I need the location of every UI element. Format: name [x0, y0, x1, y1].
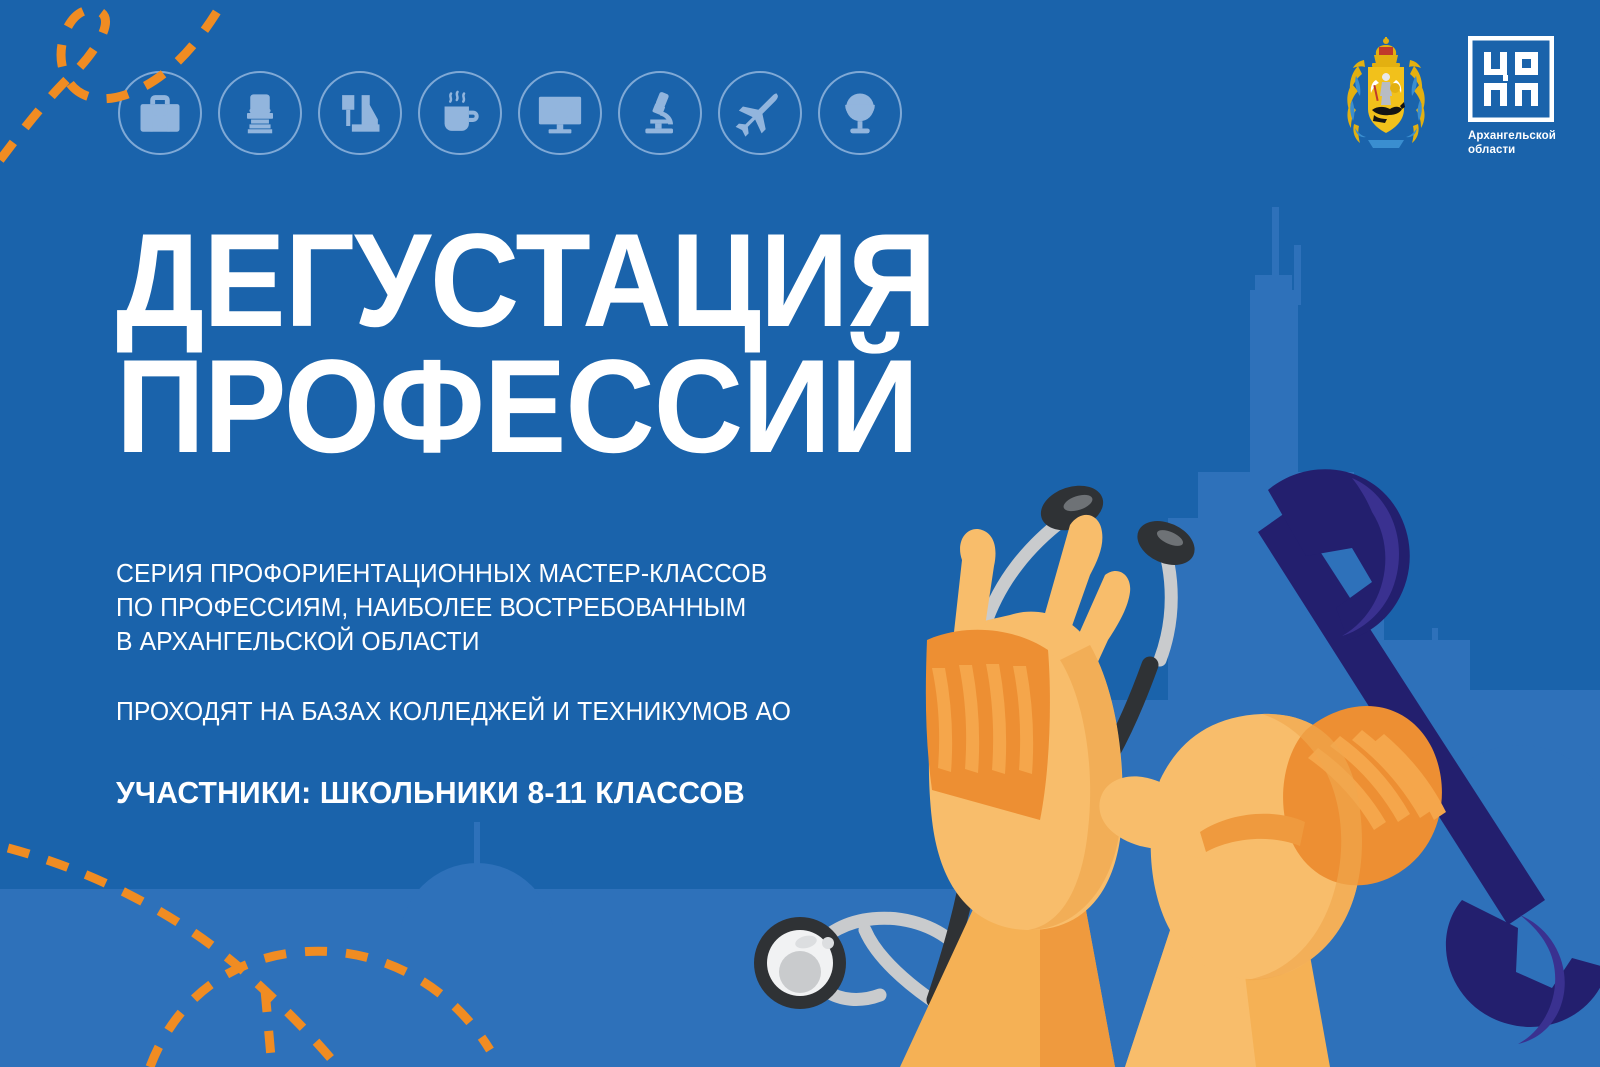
- body-p1-line-3: В АРХАНГЕЛЬСКОЙ ОБЛАСТИ: [116, 628, 480, 656]
- coffee-cup-icon: [434, 87, 486, 139]
- body-paragraph-2: ПРОХОДЯТ НА БАЗАХ КОЛЛЕДЖЕЙ И ТЕХНИКУМОВ…: [116, 696, 892, 730]
- icon-badge-coffee-cup[interactable]: [418, 71, 502, 155]
- airplane-icon: [734, 87, 786, 139]
- icon-badge-construction-tools[interactable]: [318, 71, 402, 155]
- background-bottom-band: [0, 889, 1600, 1067]
- body-paragraph-3: УЧАСТНИКИ: ШКОЛЬНИКИ 8-11 КЛАССОВ: [116, 772, 892, 813]
- monitor-chart-icon: [534, 87, 586, 139]
- globe-icon: [834, 87, 886, 139]
- profession-icon-row: [118, 71, 902, 155]
- copp-caption: Архангельской области: [1468, 129, 1560, 157]
- construction-tools-icon: [334, 87, 386, 139]
- copp-mark-icon: [1468, 36, 1554, 122]
- copp-caption-line-1: Архангельской: [1468, 129, 1560, 143]
- body-paragraph-1: СЕРИЯ ПРОФОРИЕНТАЦИОННЫХ МАСТЕР-КЛАССОВ …: [116, 558, 892, 660]
- copp-logo: Архангельской области: [1468, 36, 1560, 157]
- headline-line-2: ПРОФЕССИЙ: [116, 344, 936, 470]
- icon-badge-globe[interactable]: [818, 71, 902, 155]
- arkhangelsk-oblast-coat-of-arms: [1338, 36, 1434, 156]
- body-p1-line-2: ПО ПРОФЕССИЯМ, НАИБОЛЕЕ ВОСТРЕБОВАННЫМ: [116, 594, 746, 622]
- poster-body-copy: СЕРИЯ ПРОФОРИЕНТАЦИОННЫХ МАСТЕР-КЛАССОВ …: [116, 558, 916, 813]
- icon-badge-monitor-chart[interactable]: [518, 71, 602, 155]
- first-aid-kit-icon: [134, 87, 186, 139]
- icon-badge-airplane[interactable]: [718, 71, 802, 155]
- poster-canvas: Архангельской области ДЕГУСТАЦИЯ ПРОФЕСС…: [0, 0, 1600, 1067]
- icon-badge-theodolite[interactable]: [218, 71, 302, 155]
- icon-badge-microscope[interactable]: [618, 71, 702, 155]
- theodolite-icon: [234, 87, 286, 139]
- logo-group: Архангельской области: [1338, 36, 1560, 157]
- poster-headline: ДЕГУСТАЦИЯ ПРОФЕССИЙ: [116, 218, 936, 471]
- body-p1-line-1: СЕРИЯ ПРОФОРИЕНТАЦИОННЫХ МАСТЕР-КЛАССОВ: [116, 560, 767, 588]
- microscope-icon: [634, 87, 686, 139]
- copp-caption-line-2: области: [1468, 143, 1560, 157]
- icon-badge-first-aid-kit[interactable]: [118, 71, 202, 155]
